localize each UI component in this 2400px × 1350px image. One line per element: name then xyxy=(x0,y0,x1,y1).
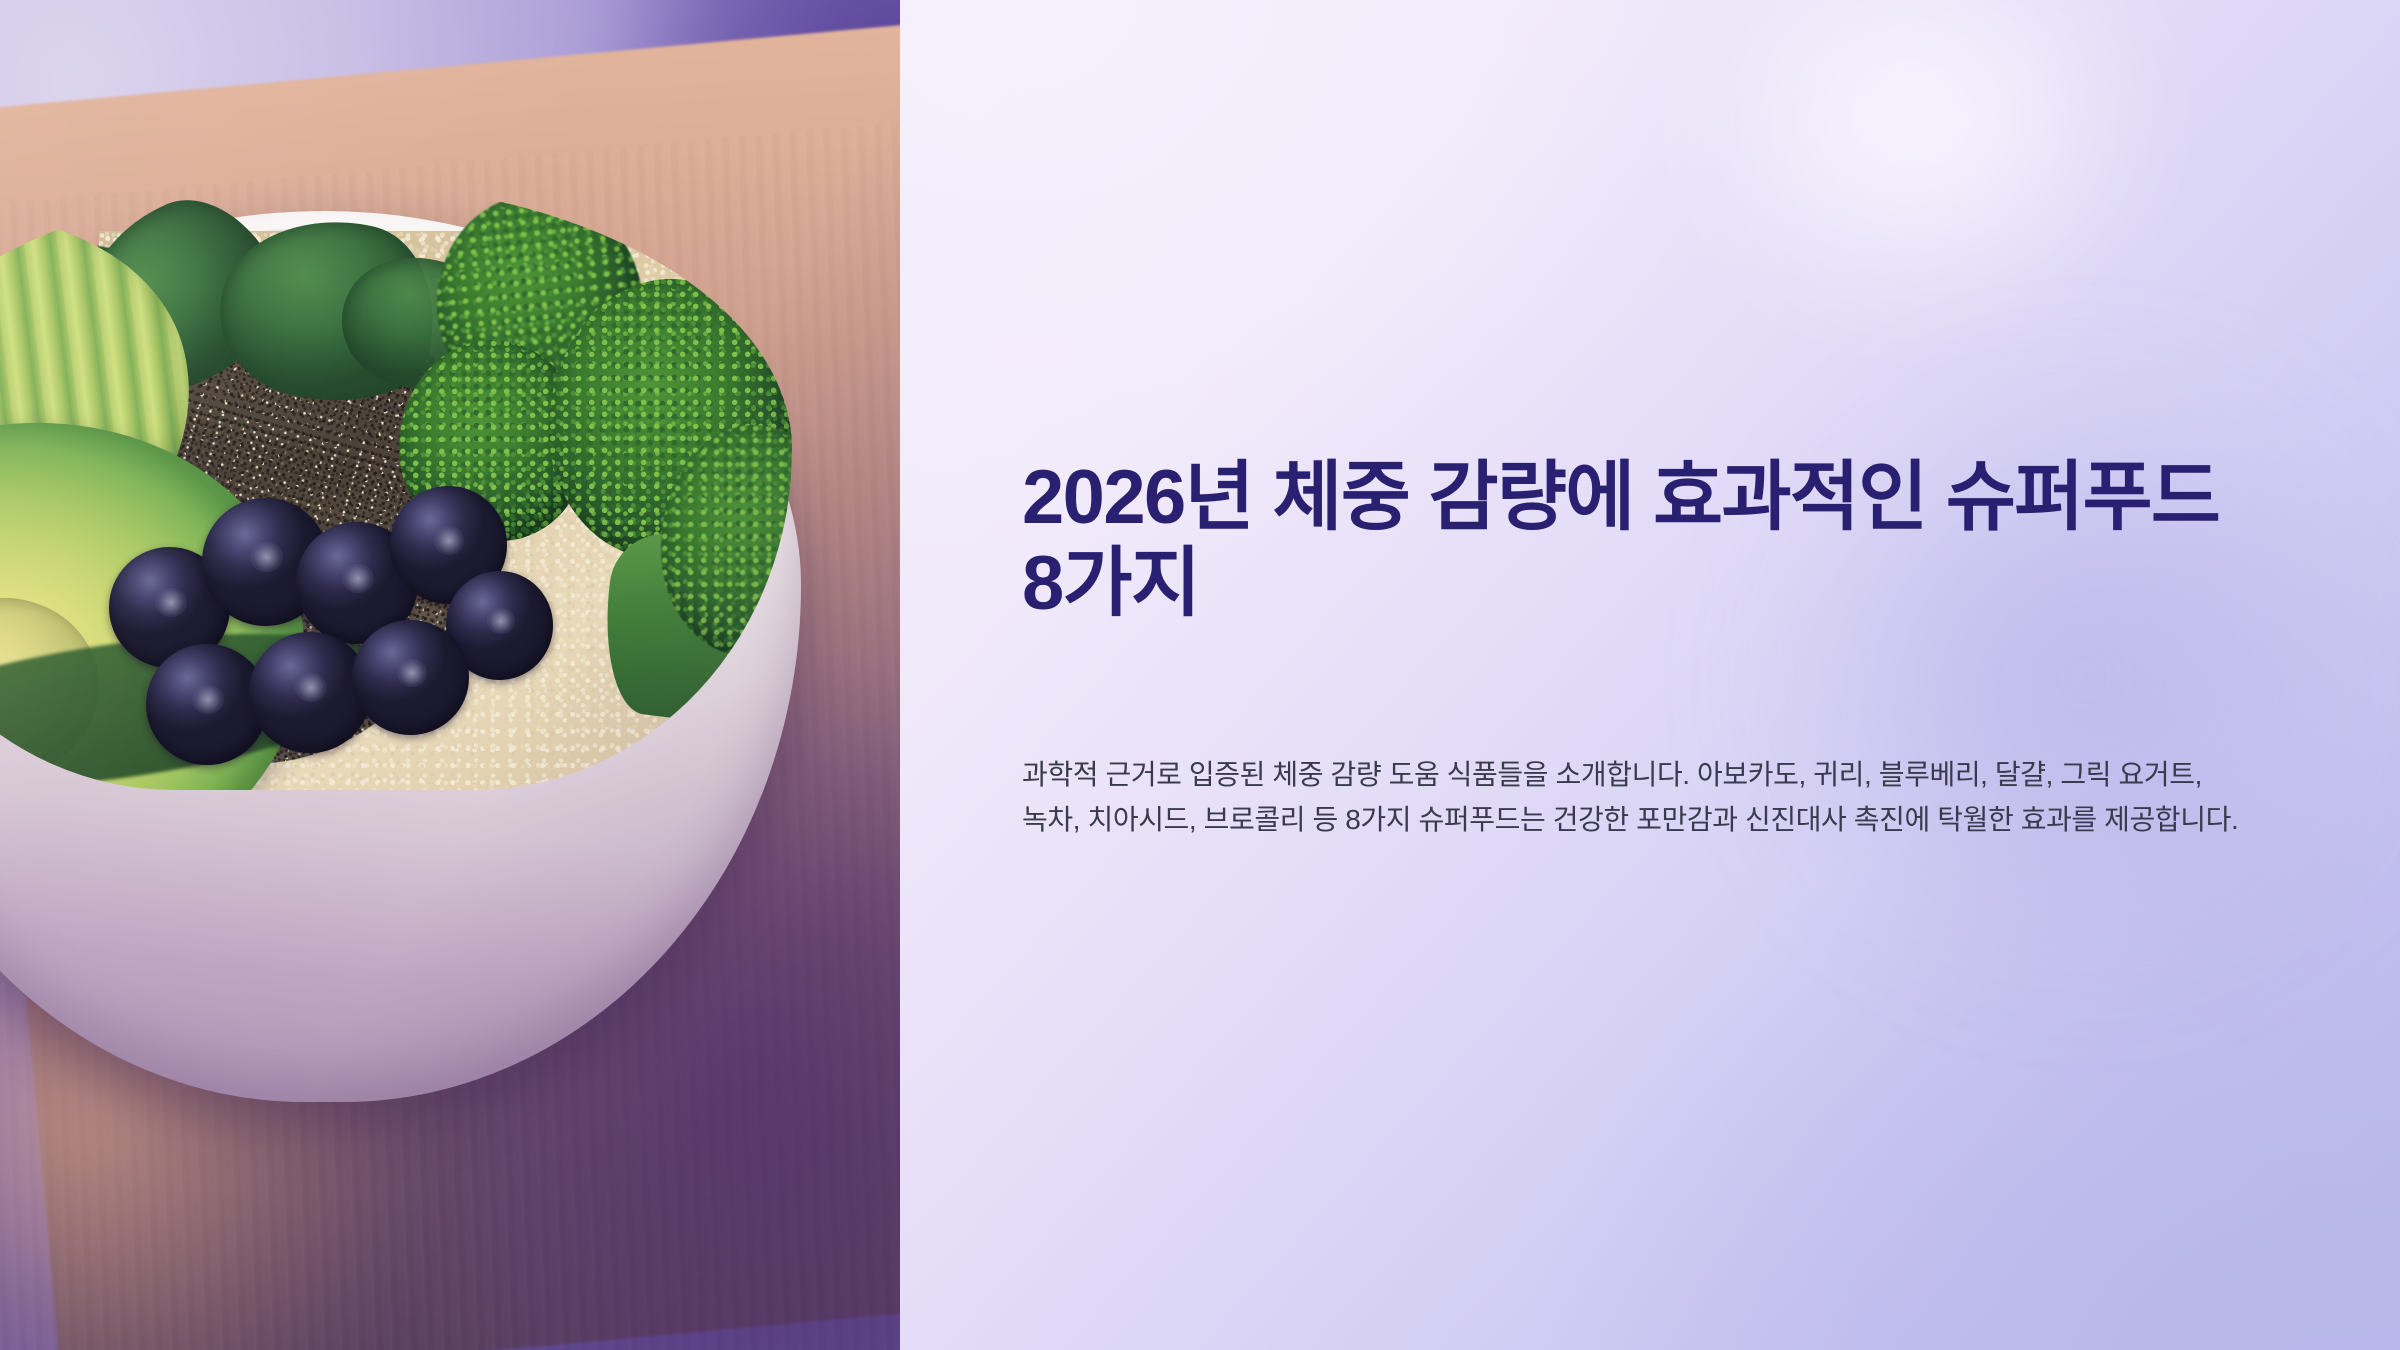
blueberry xyxy=(352,620,469,735)
hero-text-panel: 2026년 체중 감량에 효과적인 슈퍼푸드 8가지 과학적 근거로 입증된 체… xyxy=(900,0,2400,1350)
page-title: 2026년 체중 감량에 효과적인 슈퍼푸드 8가지 xyxy=(1022,455,2272,627)
hero-photo xyxy=(0,0,900,1350)
superfood-bowl-contents xyxy=(0,182,792,790)
article-hero-card: 2026년 체중 감량에 효과적인 슈퍼푸드 8가지 과학적 근거로 입증된 체… xyxy=(0,0,2400,1350)
hero-description: 과학적 근거로 입증된 체중 감량 도움 식품들을 소개합니다. 아보카도, 귀… xyxy=(1022,752,2267,843)
hero-copy-block: 2026년 체중 감량에 효과적인 슈퍼푸드 8가지 과학적 근거로 입증된 체… xyxy=(1022,455,2272,842)
blueberry xyxy=(249,632,371,754)
